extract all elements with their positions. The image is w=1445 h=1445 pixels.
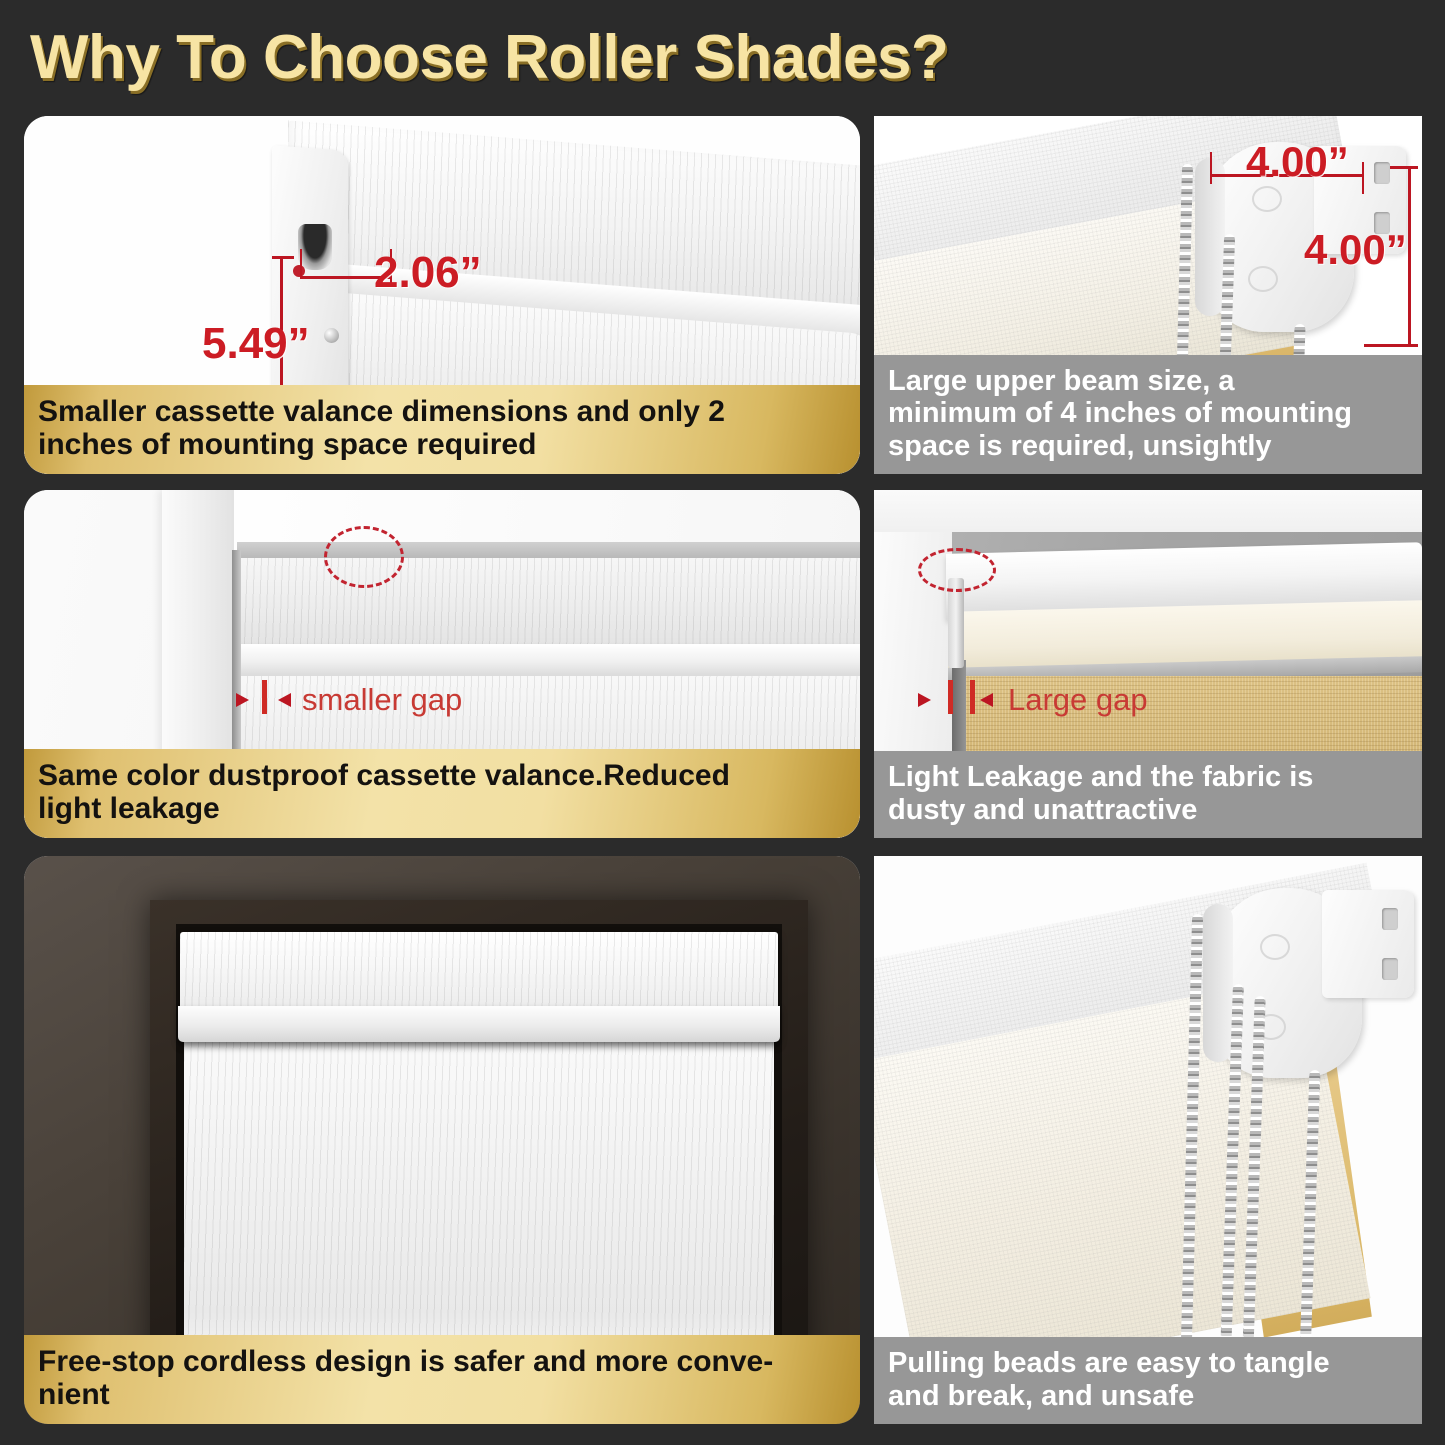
height-dimension-tick-top	[272, 256, 294, 259]
bracket-wing-plate	[1322, 890, 1414, 998]
gap-measure-bar-2	[970, 680, 975, 714]
panel-3-caption-line-2: light leakage	[38, 792, 846, 826]
panel-1-caption-line-1: Smaller cassette valance dimensions and …	[38, 395, 846, 429]
cassette-valance-lip	[178, 1006, 780, 1042]
panel-light-leakage: Large gap Light Leakage and the fabric i…	[874, 490, 1422, 838]
panel-pulling-beads: Pulling beads are easy to tangle and bre…	[874, 856, 1422, 1424]
panel-large-upper-beam: 4.00” 4.00” Large upper beam size, a min…	[874, 116, 1422, 474]
gap-arrow-right-icon	[918, 693, 931, 707]
panel-5-caption-line-2: nient	[38, 1378, 846, 1412]
shade-fabric-panel	[184, 1040, 774, 1360]
bracket-grommet-icon	[1260, 934, 1290, 960]
panel-1-caption-line-2: inches of mounting space required	[38, 428, 846, 462]
bracket-grommet-icon	[1248, 266, 1278, 292]
ceiling-strip	[874, 490, 1422, 532]
beam-width-tick-right	[1362, 162, 1364, 194]
gap-arrow-left-icon	[980, 693, 993, 707]
beam-height-tick-top	[1390, 166, 1418, 169]
beam-height-tick-bottom	[1364, 344, 1418, 347]
panel-dustproof-valance: smaller gap Same color dustproof cassett…	[24, 490, 860, 838]
gap-callout-label: smaller gap	[302, 682, 462, 718]
panel-2-caption: Large upper beam size, a minimum of 4 in…	[874, 355, 1422, 474]
bracket-grommet-icon	[1252, 186, 1282, 212]
panel-5-caption-line-1: Free-stop cordless design is safer and m…	[38, 1345, 846, 1379]
panel-2-caption-line-2: minimum of 4 inches of mounting	[888, 397, 1408, 429]
panel-2-caption-line-1: Large upper beam size, a	[888, 365, 1408, 397]
beam-height-dimension-line	[1408, 166, 1411, 346]
panel-6-caption-line-1: Pulling beads are easy to tangle	[888, 1347, 1408, 1379]
gap-measure-bar	[948, 680, 953, 714]
width-dimension-label: 2.06”	[374, 248, 482, 298]
bracket-screw-icon	[324, 328, 339, 343]
gap-arrow-left-icon	[278, 693, 291, 707]
panel-1-caption: Smaller cassette valance dimensions and …	[24, 385, 860, 474]
panel-4-caption-line-2: dusty and unattractive	[888, 794, 1408, 826]
panel-6-caption: Pulling beads are easy to tangle and bre…	[874, 1337, 1422, 1424]
beam-width-dimension-label: 4.00”	[1246, 138, 1349, 186]
height-dimension-label: 5.49”	[202, 319, 310, 369]
panel-4-caption: Light Leakage and the fabric is dusty an…	[874, 751, 1422, 838]
panel-4-caption-line-1: Light Leakage and the fabric is	[888, 761, 1408, 793]
panel-3-caption: Same color dustproof cassette valance.Re…	[24, 749, 860, 838]
cassette-mid-rail	[238, 644, 860, 678]
panel-2-caption-line-3: space is required, unsightly	[888, 430, 1408, 462]
bracket-slot-icon	[298, 224, 332, 270]
gap-measure-bar	[262, 680, 267, 714]
highlight-circle-icon	[324, 526, 404, 588]
beam-width-tick-left	[1210, 152, 1212, 184]
width-dimension-tick-left	[300, 249, 302, 279]
beam-height-dimension-label: 4.00”	[1304, 226, 1407, 274]
panel-smaller-cassette: 2.06” 5.49” Smaller cassette valance dim…	[24, 116, 860, 474]
panel-5-caption: Free-stop cordless design is safer and m…	[24, 1335, 860, 1424]
gap-callout-label: Large gap	[1008, 682, 1148, 718]
highlight-circle-icon	[918, 548, 996, 592]
gap-arrow-right-icon	[236, 693, 249, 707]
panel-cordless-design: Free-stop cordless design is safer and m…	[24, 856, 860, 1424]
page-title: Why To Choose Roller Shades?	[30, 18, 1030, 98]
panel-3-caption-line-1: Same color dustproof cassette valance.Re…	[38, 759, 846, 793]
panel-6-caption-line-2: and break, and unsafe	[888, 1380, 1408, 1412]
